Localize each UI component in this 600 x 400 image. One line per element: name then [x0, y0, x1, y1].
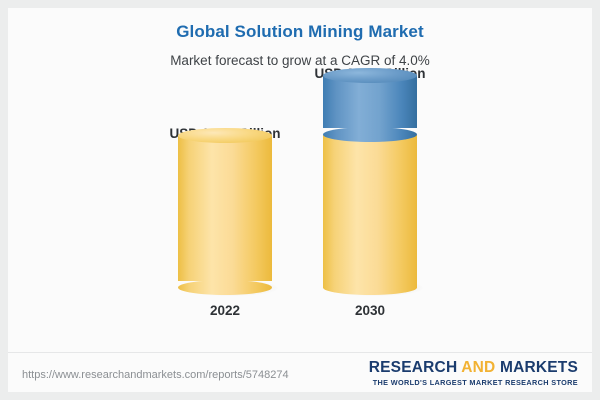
cylinder-cap-2030	[323, 68, 417, 83]
chart-title: Global Solution Mining Market	[8, 22, 592, 42]
cylinder-foot-growth-2030	[323, 127, 417, 142]
logo-wordmark: RESEARCH AND MARKETS	[369, 359, 578, 377]
logo-text-markets: MARKETS	[495, 359, 578, 376]
cylinder-cap-2022	[178, 128, 272, 143]
cylinder-2030	[323, 68, 417, 288]
logo-tagline: THE WORLD'S LARGEST MARKET RESEARCH STOR…	[369, 378, 578, 387]
bar-segment-growth-2030	[323, 68, 417, 135]
report-url-link[interactable]: https://www.researchandmarkets.com/repor…	[22, 369, 289, 381]
category-label-2030: 2030	[305, 303, 435, 318]
cylinder-2022	[178, 128, 272, 288]
cylinder-body-base-2030	[323, 135, 417, 288]
bar-group-2030: USD 27.36 Billion 2030	[305, 86, 435, 318]
logo-text-and: AND	[461, 359, 495, 376]
research-and-markets-logo[interactable]: RESEARCH AND MARKETS THE WORLD'S LARGEST…	[369, 359, 578, 387]
chart-card: Global Solution Mining Market Market for…	[8, 8, 592, 392]
bar-group-2022: USD 19.95 Billion 2022	[160, 86, 290, 318]
bar-segment-base-2022	[178, 128, 272, 288]
category-label-2022: 2022	[160, 303, 290, 318]
bar-segment-base-2030	[323, 128, 417, 288]
chart-subtitle: Market forecast to grow at a CAGR of 4.0…	[8, 53, 592, 68]
cylinder-body-2022	[178, 135, 272, 281]
logo-text-research: RESEARCH	[369, 359, 462, 376]
plot-area: USD 19.95 Billion 2022 USD 27.36 Billion	[8, 86, 592, 348]
cylinder-foot-2022	[178, 280, 272, 295]
chart-footer: https://www.researchandmarkets.com/repor…	[8, 353, 592, 392]
